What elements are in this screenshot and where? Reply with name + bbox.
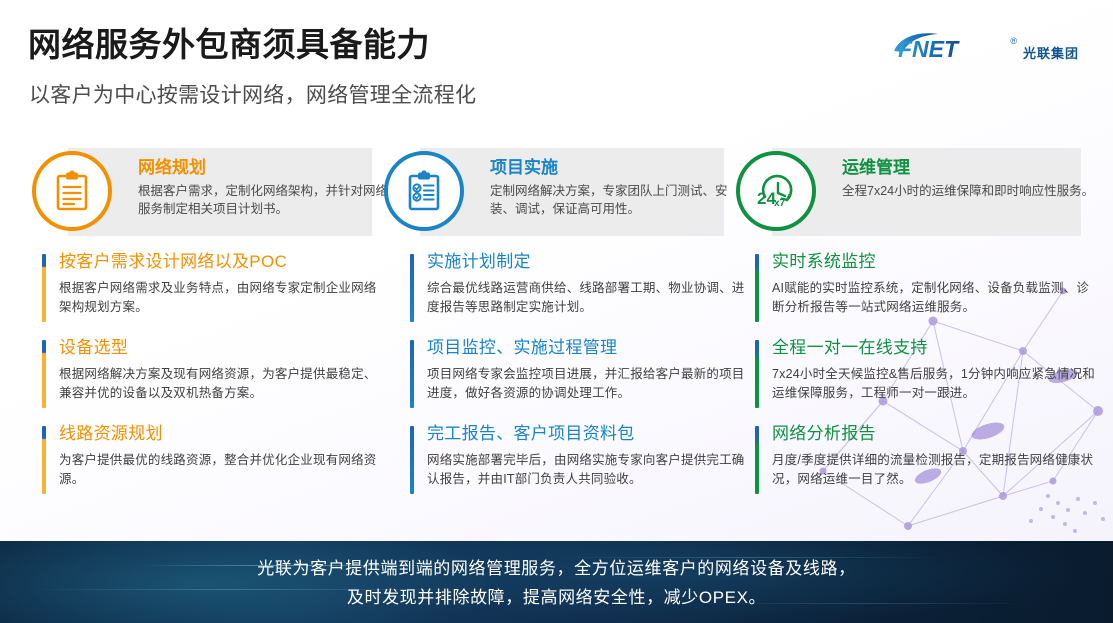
list-item: 网络分析报告 月度/季度提供详细的流量检测报告，定期报告网络健康状况，网络运维一… <box>755 424 1095 489</box>
card-icon-badge <box>32 151 112 231</box>
clipboard-check-icon <box>401 168 447 214</box>
item-title: 完工报告、客户项目资料包 <box>427 424 746 444</box>
card-text: 运维管理 全程7x24小时的运维保障和即时响应性服务。 <box>842 158 1098 200</box>
card-heading: 运维管理 <box>842 158 1098 178</box>
list-item: 按客户需求设计网络以及POC 根据客户网络需求及业务特点，由网络专家定制企业网络… <box>42 252 382 317</box>
fnet-wordmark-icon: FNET <box>892 30 1004 64</box>
card-heading: 项目实施 <box>490 158 742 178</box>
list-item: 全程一对一在线支持 7x24小时全天候监控&售后服务，1分钟内响应紧急情况和运维… <box>755 338 1095 403</box>
footer-line-1: 光联为客户提供端到端的网络管理服务，全方位运维客户的网络设备及线路， <box>0 554 1113 583</box>
item-accent-bar <box>410 254 414 322</box>
item-title: 项目监控、实施过程管理 <box>427 338 746 358</box>
item-accent-bar <box>755 254 759 322</box>
list-item: 实时系统监控 AI赋能的实时监控系统，定制化网络、设备负载监测、诊断分析报告等一… <box>755 252 1095 317</box>
item-title: 设备选型 <box>59 338 382 358</box>
list-item: 设备选型 根据网络解决方案及现有网络资源，为客户提供最稳定、兼容并优的设备以及双… <box>42 338 382 403</box>
item-desc: 根据网络解决方案及现有网络资源，为客户提供最稳定、兼容并优的设备以及双机热备方案… <box>59 365 382 403</box>
card-operations-management: 24 x7 运维管理 全程7x24小时的运维保障和即时响应性服务。 <box>736 148 1081 236</box>
page-subtitle: 以客户为中心按需设计网络，网络管理全流程化 <box>29 79 476 109</box>
item-accent-bar <box>755 340 759 408</box>
item-desc: 综合最优线路运营商供给、线路部署工期、物业协调、进度报告等思路制定实施计划。 <box>427 279 746 317</box>
item-title: 实时系统监控 <box>772 252 1095 272</box>
item-accent-bar <box>42 426 46 494</box>
list-item: 线路资源规划 为客户提供最优的线路资源，整合并优化企业现有网络资源。 <box>42 424 382 489</box>
list-item: 项目监控、实施过程管理 项目网络专家会监控项目进展，并汇报给客户最新的项目进度，… <box>410 338 746 403</box>
column-operations-items: 实时系统监控 AI赋能的实时监控系统，定制化网络、设备负载监测、诊断分析报告等一… <box>755 252 1095 510</box>
clock-24x7-icon: 24 x7 <box>752 167 800 215</box>
item-desc: 网络实施部署完毕后，由网络实施专家向客户提供完工确认报告，并由IT部门负责人共同… <box>427 451 746 489</box>
card-heading: 网络规划 <box>138 158 390 178</box>
item-desc: AI赋能的实时监控系统，定制化网络、设备负载监测、诊断分析报告等一站式网络运维服… <box>772 279 1095 317</box>
card-description: 全程7x24小时的运维保障和即时响应性服务。 <box>842 182 1098 200</box>
item-accent-bar <box>755 426 759 494</box>
footer-line-2: 及时发现并排除故障，提高网络安全性，减少OPEX。 <box>0 583 1113 612</box>
card-icon-badge: 24 x7 <box>736 151 816 231</box>
item-accent-bar <box>410 340 414 408</box>
header: 网络服务外包商须具备能力 以客户为中心按需设计网络，网络管理全流程化 FNET <box>0 0 1113 130</box>
svg-text:FNET: FNET <box>898 36 960 62</box>
column-implementation-items: 实施计划制定 综合最优线路运营商供给、线路部署工期、物业协调、进度报告等思路制定… <box>410 252 746 510</box>
footer-text: 光联为客户提供端到端的网络管理服务，全方位运维客户的网络设备及线路， 及时发现并… <box>0 554 1113 612</box>
card-description: 根据客户需求，定制化网络架构，并针对网络服务制定相关项目计划书。 <box>138 182 390 218</box>
svg-text:x7: x7 <box>774 198 786 209</box>
fnet-logo: FNET ® 光联集团 <box>892 26 1079 64</box>
card-description: 定制网络解决方案，专家团队上门测试、安装、调试，保证高可用性。 <box>490 182 742 218</box>
list-item: 完工报告、客户项目资料包 网络实施部署完毕后，由网络实施专家向客户提供完工确认报… <box>410 424 746 489</box>
item-accent-bar <box>410 426 414 494</box>
slide-canvas: 网络服务外包商须具备能力 以客户为中心按需设计网络，网络管理全流程化 FNET <box>0 0 1113 623</box>
registered-mark: ® <box>1010 36 1017 46</box>
logo-company-name: 光联集团 <box>1023 43 1079 62</box>
item-desc: 项目网络专家会监控项目进展，并汇报给客户最新的项目进度，做好各资源的协调处理工作… <box>427 365 746 403</box>
item-title: 按客户需求设计网络以及POC <box>59 252 382 272</box>
item-title: 网络分析报告 <box>772 424 1095 444</box>
list-item: 实施计划制定 综合最优线路运营商供给、线路部署工期、物业协调、进度报告等思路制定… <box>410 252 746 317</box>
item-accent-bar <box>42 254 46 322</box>
footer-banner: 光联为客户提供端到端的网络管理服务，全方位运维客户的网络设备及线路， 及时发现并… <box>0 541 1113 623</box>
item-desc: 根据客户网络需求及业务特点，由网络专家定制企业网络架构规划方案。 <box>59 279 382 317</box>
item-title: 实施计划制定 <box>427 252 746 272</box>
item-accent-bar <box>42 340 46 408</box>
card-project-implementation: 项目实施 定制网络解决方案，专家团队上门测试、安装、调试，保证高可用性。 <box>384 148 724 236</box>
item-desc: 为客户提供最优的线路资源，整合并优化企业现有网络资源。 <box>59 451 382 489</box>
item-title: 全程一对一在线支持 <box>772 338 1095 358</box>
item-title: 线路资源规划 <box>59 424 382 444</box>
card-network-planning: 网络规划 根据客户需求，定制化网络架构，并针对网络服务制定相关项目计划书。 <box>32 148 372 236</box>
page-title: 网络服务外包商须具备能力 <box>28 18 430 66</box>
item-desc: 7x24小时全天候监控&售后服务，1分钟内响应紧急情况和运维保障服务，工程师一对… <box>772 365 1095 403</box>
clipboard-icon <box>49 168 95 214</box>
column-network-planning-items: 按客户需求设计网络以及POC 根据客户网络需求及业务特点，由网络专家定制企业网络… <box>42 252 382 510</box>
item-desc: 月度/季度提供详细的流量检测报告，定期报告网络健康状况，网络运维一目了然。 <box>772 451 1095 489</box>
card-text: 网络规划 根据客户需求，定制化网络架构，并针对网络服务制定相关项目计划书。 <box>138 158 390 218</box>
card-text: 项目实施 定制网络解决方案，专家团队上门测试、安装、调试，保证高可用性。 <box>490 158 742 218</box>
card-icon-badge <box>384 151 464 231</box>
